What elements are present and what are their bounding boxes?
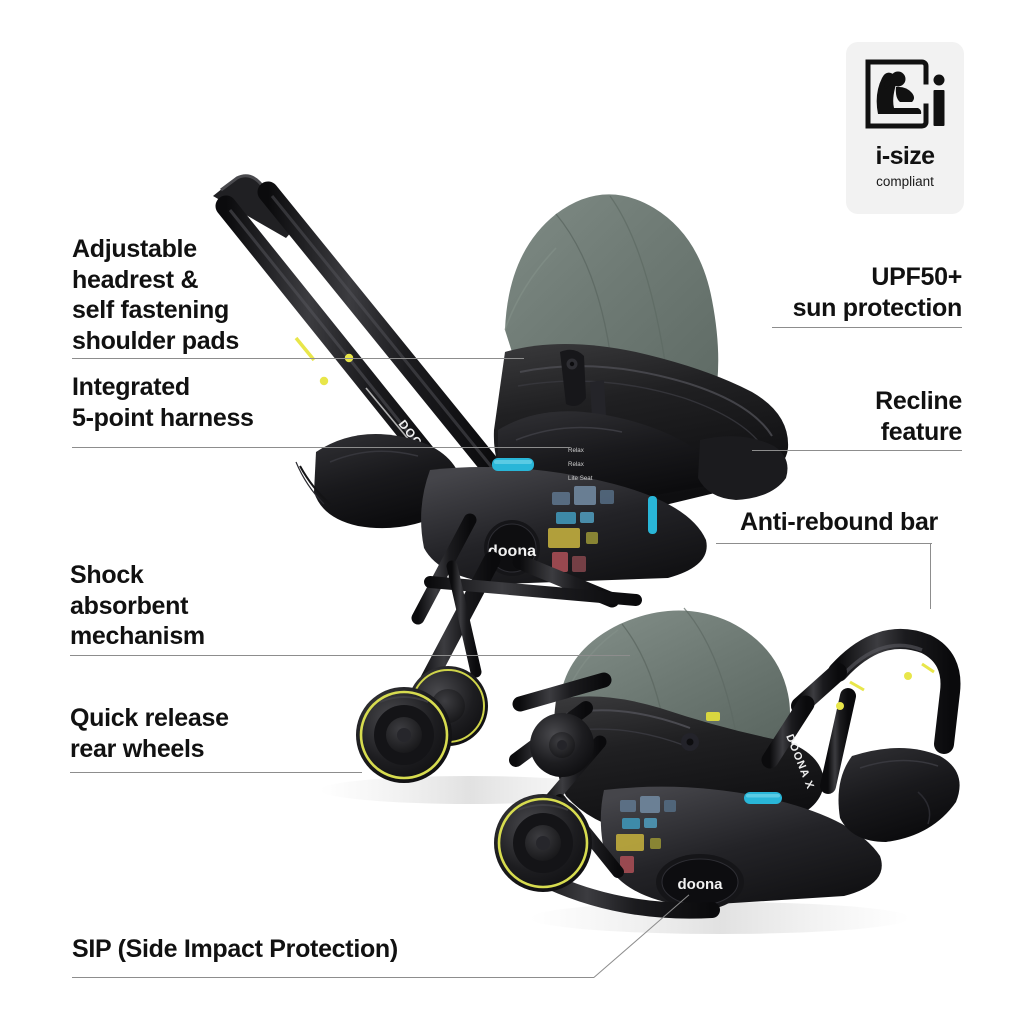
svg-text:Relax: Relax (568, 447, 585, 454)
callout-quick-release-wheels: Quick release rear wheels (70, 703, 229, 764)
front-wheel-lower (530, 713, 594, 777)
i-size-subtitle: compliant (876, 175, 934, 189)
leader-line-sip-horizontal (72, 977, 594, 978)
leader-line-shock-absorbent (70, 655, 630, 656)
leader-line-recline-feature (752, 450, 962, 451)
leader-line-anti-rebound-horizontal (716, 543, 932, 544)
callout-shock-absorbent: Shock absorbent mechanism (70, 560, 205, 652)
leader-line-adjustable-headrest (72, 358, 524, 359)
callout-adjustable-headrest: Adjustable headrest & self fastening sho… (72, 234, 239, 356)
brand-wordmark-lower: doona (678, 876, 724, 893)
svg-text:Relax: Relax (568, 461, 585, 468)
callout-side-impact-protection: SIP (Side Impact Protection) (72, 934, 398, 965)
i-size-car-seat-icon (862, 56, 948, 134)
leader-line-integrated-harness (72, 447, 570, 448)
release-handle-upper (492, 458, 534, 471)
stroller-lower-unit: doona (494, 600, 960, 934)
i-size-badge: i-size compliant (846, 42, 964, 214)
callout-upf-sun-protection: UPF50+ sun protection (793, 262, 962, 323)
infant-insert-lower (839, 748, 960, 842)
rear-wheel-assembly-upper (356, 666, 488, 783)
rear-wheel-lower (494, 794, 592, 892)
feature-diagram-canvas: DOONA X (0, 0, 1024, 1024)
i-size-title: i-size (876, 144, 935, 169)
callout-recline-feature: Recline feature (875, 386, 962, 447)
callout-integrated-harness: Integrated 5-point harness (72, 372, 254, 433)
svg-text:Lite Seat: Lite Seat (568, 475, 593, 482)
leader-line-anti-rebound-vertical (930, 543, 931, 609)
leader-line-quick-release-wheels (70, 772, 362, 773)
leader-line-upf-sun-protection (772, 327, 962, 328)
release-handle-lower (744, 792, 782, 804)
callout-anti-rebound-bar: Anti-rebound bar (740, 507, 938, 538)
